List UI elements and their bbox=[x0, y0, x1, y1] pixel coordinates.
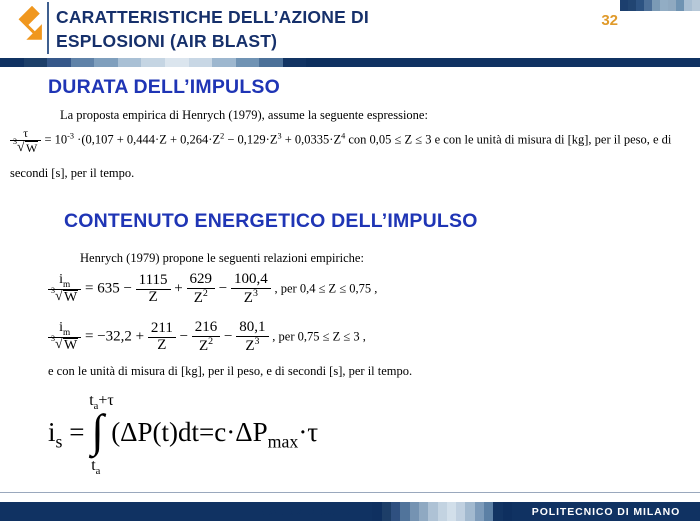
eq2-f2-den-exp: 2 bbox=[208, 336, 213, 347]
integral-lower-limit: ta bbox=[91, 457, 100, 477]
section-2-equation-2: im 3 √ W = −32,2 + 211 Z − 216 Z2 − 80,1… bbox=[48, 320, 366, 355]
eq1-radical-body: W bbox=[63, 290, 78, 306]
footer-bar-segment-2 bbox=[382, 502, 391, 521]
eq1-op-2: + bbox=[174, 281, 182, 297]
eq2-radical-glyph: √ bbox=[55, 338, 63, 352]
section-1-heading: DURATA DELL’IMPULSO bbox=[48, 76, 280, 99]
integral-lhs: i bbox=[48, 417, 56, 447]
footer-bar-segment-6 bbox=[419, 502, 428, 521]
formula-minus-1: − bbox=[227, 132, 234, 146]
section-2-closing: e con le unità di misura di [kg], per il… bbox=[48, 364, 412, 379]
eq2-f3-den-exp: 3 bbox=[255, 336, 260, 347]
eq1-f2-den: Z2 bbox=[187, 289, 216, 307]
slide-header: CARATTERISTICHE DELL’AZIONE DI ESPLOSION… bbox=[0, 0, 700, 56]
eq1-lhs-num-sub: m bbox=[63, 278, 70, 288]
footer-bar-segment-8 bbox=[438, 502, 447, 521]
footer-bar-segment-5 bbox=[410, 502, 419, 521]
footer-bar-segment-7 bbox=[428, 502, 437, 521]
eq2-lhs-den: 3 √ W bbox=[48, 338, 81, 354]
header-divider bbox=[47, 2, 49, 54]
header-bar-segment-9 bbox=[212, 58, 236, 67]
integral-sign: ta+τ ∫ ta bbox=[91, 417, 111, 453]
slide-footer: MAURIZIO ACITO POLITECNICO DI MILANO bbox=[0, 492, 700, 525]
header-swatch-strip bbox=[620, 0, 700, 11]
footer-bar-segment-12 bbox=[475, 502, 484, 521]
integral-equals-1: = bbox=[69, 417, 84, 447]
integral-equation: is = ta+τ ∫ ta (ΔP(t)dt=c·ΔPmax·τ bbox=[48, 417, 318, 453]
eq2-lhs-fraction: im 3 √ W bbox=[48, 321, 81, 354]
formula-plus-2: + bbox=[170, 132, 177, 146]
formula-equals: = bbox=[44, 132, 51, 146]
header-bar-solid bbox=[330, 58, 700, 67]
integral-integrand: (ΔP(t)dt bbox=[111, 417, 199, 447]
eq2-constant: −32,2 bbox=[97, 329, 132, 345]
formula-prefactor-exponent: -3 bbox=[67, 131, 74, 140]
header-gradient-bar bbox=[0, 58, 700, 67]
section-1-continuation: secondi [s], per il tempo. bbox=[10, 166, 134, 181]
eq2-f1-den: Z bbox=[148, 338, 176, 354]
integral-rhs-sub: max bbox=[268, 432, 299, 452]
page-number: 32 bbox=[601, 12, 618, 29]
eq2-f3-den-base: Z bbox=[245, 338, 254, 354]
formula-term-1-var: Z bbox=[159, 132, 167, 146]
footer-bar-segment-14 bbox=[493, 502, 502, 521]
page-title-line-2: ESPLOSIONI (AIR BLAST) bbox=[56, 29, 566, 53]
formula-plus-3: + bbox=[285, 132, 292, 146]
formula-term-3-coef: 0,129 bbox=[238, 132, 266, 146]
header-bar-segment-1 bbox=[24, 58, 48, 67]
page-title-line-1: CARATTERISTICHE DELL’AZIONE DI bbox=[56, 5, 566, 29]
eq1-fraction-1: 1115 Z bbox=[136, 273, 171, 306]
footer-bar-segment-13 bbox=[484, 502, 493, 521]
header-bar-segment-6 bbox=[141, 58, 165, 67]
header-swatch-9 bbox=[692, 0, 700, 11]
eq2-f2-den-base: Z bbox=[199, 338, 208, 354]
footer-bar-segment-0 bbox=[363, 502, 372, 521]
eq1-constant: 635 bbox=[97, 281, 120, 297]
eq2-f3-den: Z3 bbox=[236, 337, 268, 355]
footer-bar-segment-10 bbox=[456, 502, 465, 521]
header-bar-segment-5 bbox=[118, 58, 142, 67]
header-swatch-1 bbox=[628, 0, 636, 11]
eq1-fraction-2: 629 Z2 bbox=[187, 272, 216, 307]
section-1-intro: La proposta empirica di Henrych (1979), … bbox=[60, 108, 428, 123]
header-bar-segment-11 bbox=[259, 58, 283, 67]
header-swatch-6 bbox=[668, 0, 676, 11]
eq2-f1-num: 211 bbox=[148, 321, 176, 338]
eq1-f2-den-exp: 2 bbox=[203, 288, 208, 299]
eq1-lhs-fraction: im 3 √ W bbox=[48, 273, 81, 306]
formula-term-4-var: Z bbox=[333, 132, 341, 146]
header-swatch-5 bbox=[660, 0, 668, 11]
section-1-formula: τ 3 √ W = 10-3 ·(0,107 + 0,444·Z + 0,264… bbox=[10, 127, 671, 154]
formula-denominator: 3 √ W bbox=[10, 141, 41, 155]
eq1-f1-num: 1115 bbox=[136, 273, 171, 290]
eq1-f3-num: 100,4 bbox=[231, 272, 271, 289]
header-bar-segment-0 bbox=[0, 58, 24, 67]
header-bar-segment-4 bbox=[94, 58, 118, 67]
eq1-fraction-3: 100,4 Z3 bbox=[231, 272, 271, 307]
section-2-heading: CONTENUTO ENERGETICO DELL’IMPULSO bbox=[64, 210, 478, 233]
formula-term-4-exp: 4 bbox=[341, 131, 345, 140]
header-bar-segment-7 bbox=[165, 58, 189, 67]
formula-term-0: 0,107 bbox=[85, 132, 113, 146]
eq2-range: , per 0,75 ≤ Z ≤ 3 , bbox=[272, 330, 366, 344]
header-bar-segment-3 bbox=[71, 58, 95, 67]
integral-lhs-sub: s bbox=[56, 432, 63, 452]
eq2-f3-num: 80,1 bbox=[236, 320, 268, 337]
integral-rhs-c: c·ΔP bbox=[214, 417, 267, 447]
header-bar-segment-10 bbox=[236, 58, 260, 67]
footer-bar-segment-1 bbox=[372, 502, 381, 521]
eq1-range: , per 0,4 ≤ Z ≤ 0,75 , bbox=[274, 282, 377, 296]
section-2-intro: Henrych (1979) propone le seguenti relaz… bbox=[80, 251, 364, 266]
eq1-op-1: − bbox=[123, 281, 131, 297]
footer-bar-segment-3 bbox=[391, 502, 400, 521]
eq2-f2-num: 216 bbox=[192, 320, 221, 337]
eq1-f2-den-base: Z bbox=[194, 290, 203, 306]
eq1-lhs-den: 3 √ W bbox=[48, 290, 81, 306]
eq1-equals: = bbox=[85, 281, 93, 297]
integral-equals-2: = bbox=[199, 417, 214, 447]
footer-divider bbox=[0, 492, 700, 493]
footer-bar-segment-15 bbox=[503, 502, 512, 521]
integral-lower-limit-sub: a bbox=[96, 466, 101, 477]
radical-body: W bbox=[25, 141, 38, 155]
eq2-fraction-1: 211 Z bbox=[148, 321, 176, 354]
eq2-op-2: − bbox=[180, 329, 188, 345]
formula-prefactor: 10 bbox=[55, 132, 68, 146]
eq2-lhs-num-sub: m bbox=[63, 326, 70, 336]
eq2-f2-den: Z2 bbox=[192, 337, 221, 355]
header-swatch-7 bbox=[676, 0, 684, 11]
formula-term-1-coef: 0,444 bbox=[127, 132, 155, 146]
header-swatch-0 bbox=[620, 0, 628, 11]
formula-tail-text: con 0,05 ≤ Z ≤ 3 e con le unità di misur… bbox=[348, 132, 671, 146]
footer-bar-segment-9 bbox=[447, 502, 456, 521]
integral-rhs-tail: ·τ bbox=[298, 417, 318, 447]
integral-upper-limit-rest: +τ bbox=[98, 392, 113, 409]
integral-glyph: ∫ bbox=[91, 417, 104, 446]
eq2-fraction-3: 80,1 Z3 bbox=[236, 320, 268, 355]
formula-term-2-exp: 2 bbox=[220, 131, 224, 140]
formula-plus-1: + bbox=[117, 132, 124, 146]
footer-institution: POLITECNICO DI MILANO bbox=[512, 502, 700, 521]
page-title: CARATTERISTICHE DELL’AZIONE DI ESPLOSION… bbox=[56, 5, 566, 53]
eq1-f3-den-exp: 3 bbox=[253, 288, 258, 299]
formula-term-2-coef: 0,264 bbox=[180, 132, 208, 146]
tau-over-cbrt-w: τ 3 √ W bbox=[10, 127, 41, 154]
integral-upper-limit: ta+τ bbox=[89, 392, 114, 412]
eq2-fraction-2: 216 Z2 bbox=[192, 320, 221, 355]
header-swatch-3 bbox=[644, 0, 652, 11]
eq2-equals: = bbox=[85, 329, 93, 345]
header-swatch-4 bbox=[652, 0, 660, 11]
eq1-op-3: − bbox=[219, 281, 227, 297]
eq1-f3-den: Z3 bbox=[231, 289, 271, 307]
header-bar-segment-8 bbox=[189, 58, 213, 67]
eq1-radical-glyph: √ bbox=[55, 290, 63, 304]
header-bar-segment-13 bbox=[306, 58, 330, 67]
formula-term-3-exp: 3 bbox=[277, 131, 281, 140]
footer-bar-segment-4 bbox=[400, 502, 409, 521]
eq2-radical-body: W bbox=[63, 338, 78, 354]
header-swatch-2 bbox=[636, 0, 644, 11]
footer-bar-segment-11 bbox=[465, 502, 474, 521]
eq1-f1-den: Z bbox=[136, 290, 171, 306]
header-bar-segment-12 bbox=[283, 58, 307, 67]
formula-term-2-var: Z bbox=[212, 132, 220, 146]
eq1-f3-den-base: Z bbox=[244, 290, 253, 306]
eq2-op-3: − bbox=[224, 329, 232, 345]
radical-glyph: √ bbox=[17, 141, 25, 155]
slide-content: DURATA DELL’IMPULSO La proposta empirica… bbox=[0, 67, 700, 492]
eq2-op-1: + bbox=[136, 329, 144, 345]
header-swatch-8 bbox=[684, 0, 692, 11]
footer-author: MAURIZIO ACITO bbox=[0, 502, 363, 521]
header-bar-segment-2 bbox=[47, 58, 71, 67]
formula-term-4-coef: 0,0335 bbox=[295, 132, 329, 146]
eq1-f2-num: 629 bbox=[187, 272, 216, 289]
section-2-equation-1: im 3 √ W = 635 − 1115 Z + 629 Z2 − 100,4… bbox=[48, 272, 377, 307]
